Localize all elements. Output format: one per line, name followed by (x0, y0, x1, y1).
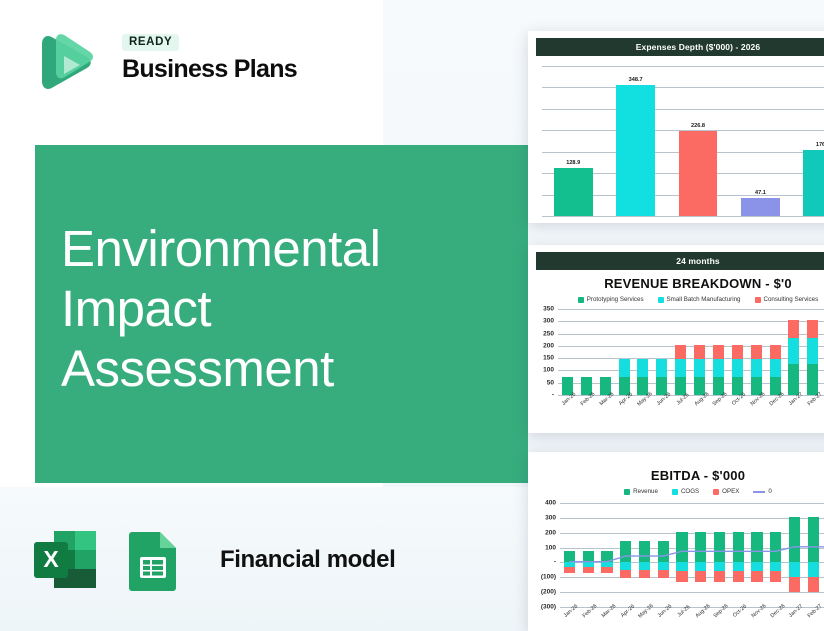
bar-column[interactable] (690, 309, 709, 395)
poster-canvas: READY Business Plans Environmental Impac… (0, 0, 824, 631)
stacked-bar[interactable] (751, 345, 762, 395)
bar-column[interactable] (577, 309, 596, 395)
bar-value-label: 226.8 (691, 123, 705, 129)
google-sheets-icon (118, 525, 188, 595)
bar-column[interactable] (634, 309, 653, 395)
page-title: Environmental Impact Assessment (61, 219, 501, 399)
x-tick-label: Jul-26 (676, 604, 691, 618)
page-title-line-1: Environmental (61, 219, 501, 279)
bar-column[interactable] (652, 309, 671, 395)
bar-segment[interactable] (637, 359, 648, 376)
stacked-bar[interactable] (637, 359, 648, 395)
x-tick: Jul-26 (673, 607, 692, 631)
y-tick-label: 200 (543, 342, 554, 349)
bar-segment[interactable] (751, 345, 762, 360)
bar-column[interactable] (596, 309, 615, 395)
x-tick: Aug-26 (690, 395, 709, 421)
bar-column[interactable] (558, 309, 577, 395)
financial-model-label: Financial model (220, 546, 395, 574)
bar-segment[interactable] (619, 359, 630, 376)
legend-item[interactable]: COGS (672, 488, 699, 495)
play-triangle-logo-icon (34, 30, 96, 94)
ebitda-plot-area: 400300200100-(100)(200)(300) (560, 503, 824, 607)
stacked-bar[interactable] (788, 320, 799, 395)
microsoft-excel-icon: X (30, 525, 100, 595)
chart-card-expenses: Expenses Depth ($'000) - 2026 128.9348.7… (528, 31, 824, 223)
x-tick: Feb-27 (804, 607, 823, 631)
brand-logo: READY Business Plans (34, 30, 294, 98)
y-tick-label: 150 (543, 355, 554, 362)
y-tick-label: 300 (543, 318, 554, 325)
bar-segment[interactable] (751, 359, 762, 376)
legend-swatch (753, 491, 765, 493)
y-tick-label: (300) (541, 604, 556, 611)
y-tick-label: 350 (543, 306, 554, 313)
page-title-line-3: Assessment (61, 339, 501, 399)
x-tick: Aug-26 (691, 607, 710, 631)
bar-segment[interactable] (675, 359, 686, 376)
bar-column[interactable] (747, 309, 766, 395)
bar-column[interactable] (671, 309, 690, 395)
x-tick: Feb-26 (579, 607, 598, 631)
gridline (542, 216, 824, 217)
chart-card-ebitda: EBITDA - $'000 RevenueCOGSOPEX0 40030020… (528, 452, 824, 631)
stacked-bar[interactable] (807, 320, 818, 395)
legend-item[interactable]: 0 (753, 488, 771, 495)
x-tick: Mar-26 (596, 395, 615, 421)
bar-column[interactable] (803, 309, 822, 395)
page-title-line-2: Impact (61, 279, 501, 339)
bar-segment[interactable] (770, 359, 781, 376)
bar[interactable] (679, 131, 718, 216)
legend-item[interactable]: Revenue (624, 488, 658, 495)
bar-segment[interactable] (656, 359, 667, 376)
bar-value-label: 348.7 (629, 77, 643, 83)
x-tick-label: Jul-26 (675, 392, 690, 406)
bar-column[interactable] (709, 309, 728, 395)
revenue-chart-title: REVENUE BREAKDOWN - $'0 (528, 276, 824, 291)
bar-segment[interactable] (807, 364, 818, 395)
y-tick-label: 250 (543, 330, 554, 337)
x-tick: Nov-26 (748, 607, 767, 631)
legend-swatch (658, 297, 664, 303)
stacked-bar[interactable] (694, 345, 705, 395)
bar[interactable] (554, 168, 593, 216)
x-tick: Apr-26 (616, 607, 635, 631)
legend-item[interactable]: Small Batch Manufacturing (658, 296, 741, 303)
ebitda-chart-legend: RevenueCOGSOPEX0 (528, 488, 824, 495)
revenue-chart-legend: Prototyping ServicesSmall Batch Manufact… (528, 296, 824, 303)
revenue-plot-area: 35030025020015010050- (558, 309, 824, 395)
revenue-chart-header: 24 months (536, 252, 824, 270)
file-formats-row: X Financial model (30, 524, 395, 596)
svg-text:X: X (43, 546, 59, 572)
legend-swatch (672, 489, 678, 495)
x-tick: Jun-26 (654, 607, 673, 631)
x-tick: Dec-26 (766, 607, 785, 631)
ebitda-chart-title: EBITDA - $'000 (528, 468, 824, 483)
legend-swatch (624, 489, 630, 495)
x-tick: Jan-26 (560, 607, 579, 631)
brand-name: Business Plans (122, 55, 297, 84)
x-tick: Feb-26 (577, 395, 596, 421)
x-tick: Sep-26 (709, 395, 728, 421)
bar-segment[interactable] (732, 359, 743, 376)
bar-segment[interactable] (807, 320, 818, 338)
bar-value-label: 47.1 (755, 190, 766, 196)
legend-label: Revenue (633, 488, 658, 495)
x-tick: Jul-26 (671, 395, 690, 421)
legend-label: Prototyping Services (587, 296, 644, 303)
stacked-bar[interactable] (713, 345, 724, 395)
legend-label: Consulting Services (764, 296, 819, 303)
x-tick: Mar-26 (598, 607, 617, 631)
chart-card-revenue: 24 months REVENUE BREAKDOWN - $'0 Protot… (528, 245, 824, 433)
zero-reference-line (560, 503, 824, 607)
bar-column[interactable] (728, 309, 747, 395)
x-tick: Oct-26 (729, 607, 748, 631)
x-tick: Jun-26 (652, 395, 671, 421)
legend-label: OPEX (722, 488, 739, 495)
expenses-plot-area: 128.9348.7226.847.1176.5 (542, 66, 824, 216)
y-tick-label: 200 (545, 529, 556, 536)
bar-value-label: 128.9 (566, 160, 580, 166)
revenue-bar-group (558, 309, 824, 395)
legend-label: Small Batch Manufacturing (667, 296, 741, 303)
stacked-bar[interactable] (656, 359, 667, 395)
legend-label: 0 (768, 488, 771, 495)
ebitda-x-axis: Jan-26Feb-26Mar-26Apr-26May-26Jun-26Jul-… (560, 607, 824, 631)
bar-segment[interactable] (694, 359, 705, 376)
bar-segment[interactable] (788, 338, 799, 364)
bar-column[interactable]: 226.8 (667, 66, 729, 216)
y-tick-label: - (552, 392, 554, 399)
y-tick-label: 50 (547, 379, 554, 386)
legend-swatch (755, 297, 761, 303)
bar-segment[interactable] (788, 320, 799, 338)
y-tick-label: (200) (541, 589, 556, 596)
bar[interactable] (803, 150, 824, 216)
bar-column[interactable]: 47.1 (729, 66, 791, 216)
expenses-chart-header: Expenses Depth ($'000) - 2026 (536, 38, 824, 56)
x-tick: Feb-27 (803, 395, 822, 421)
bar-segment[interactable] (770, 345, 781, 360)
ready-badge: READY (122, 34, 179, 51)
bar-segment[interactable] (732, 345, 743, 360)
x-tick: Oct-26 (728, 395, 747, 421)
x-tick: Jan-27 (785, 607, 804, 631)
stacked-bar[interactable] (619, 359, 630, 395)
legend-item[interactable]: Consulting Services (755, 296, 819, 303)
bar-segment[interactable] (788, 364, 799, 395)
bar-column[interactable]: 176.5 (792, 66, 824, 216)
bar[interactable] (741, 198, 780, 216)
bar-value-label: 176.5 (816, 142, 824, 148)
bar-column[interactable]: 128.9 (542, 66, 604, 216)
x-tick: Sep-26 (710, 607, 729, 631)
legend-swatch (713, 489, 719, 495)
stacked-bar[interactable] (675, 345, 686, 395)
bar-segment[interactable] (713, 345, 724, 360)
stacked-bar[interactable] (770, 345, 781, 395)
y-tick-label: 100 (543, 367, 554, 374)
bar-segment[interactable] (713, 359, 724, 376)
revenue-x-axis: Jan-26Feb-26Mar-26Apr-26May-26Jun-26Jul-… (558, 395, 824, 421)
bar-segment[interactable] (694, 345, 705, 360)
x-tick: Jan-27 (785, 395, 804, 421)
stacked-bar[interactable] (732, 345, 743, 395)
x-tick: May-26 (635, 607, 654, 631)
bar[interactable] (616, 85, 655, 216)
hero-panel: Environmental Impact Assessment (35, 145, 528, 483)
y-tick-label: (100) (541, 574, 556, 581)
bar-segment[interactable] (675, 345, 686, 360)
legend-item[interactable]: OPEX (713, 488, 739, 495)
legend-label: COGS (681, 488, 699, 495)
bar-column[interactable] (785, 309, 804, 395)
bar-column[interactable] (615, 309, 634, 395)
y-tick-label: 100 (545, 544, 556, 551)
bar-segment[interactable] (807, 338, 818, 364)
x-tick: Nov-26 (747, 395, 766, 421)
y-tick-label: 400 (545, 500, 556, 507)
legend-swatch (578, 297, 584, 303)
brand-text-block: READY Business Plans (122, 32, 297, 84)
legend-item[interactable]: Prototyping Services (578, 296, 644, 303)
expenses-bar-group: 128.9348.7226.847.1176.5 (542, 66, 824, 216)
bar-column[interactable] (766, 309, 785, 395)
y-tick-label: - (554, 559, 556, 566)
x-tick: May-26 (634, 395, 653, 421)
x-tick: Apr-26 (615, 395, 634, 421)
bar-column[interactable]: 348.7 (604, 66, 666, 216)
x-tick: Jan-26 (558, 395, 577, 421)
x-tick: Dec-26 (766, 395, 785, 421)
y-tick-label: 300 (545, 514, 556, 521)
